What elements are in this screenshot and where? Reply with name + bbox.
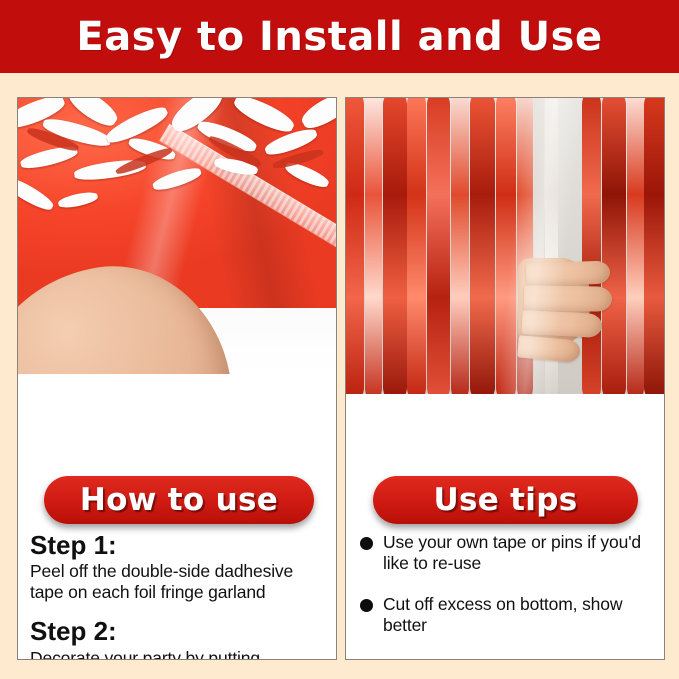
how-to-use-badge-label: How to use — [80, 482, 278, 518]
header-banner: Easy to Install and Use — [0, 0, 679, 73]
tip-text: Suitablef or birthday party, graduation … — [383, 657, 639, 660]
bullet-icon — [360, 537, 373, 550]
use-tips-badge: Use tips — [373, 476, 638, 524]
finger — [524, 285, 612, 312]
step-1-title: Step 1: — [30, 532, 324, 559]
use-tips-list: Use your own tape or pins if you'd like … — [358, 532, 652, 660]
bullet-icon — [360, 599, 373, 612]
list-item: Cut off excess on bottom, show better — [358, 594, 652, 635]
list-item: Suitablef or birthday party, graduation … — [358, 657, 652, 660]
step-1-body: Peel off the double-side dadhesive tape … — [30, 561, 324, 602]
infographic-page: Easy to Install and Use — [0, 0, 679, 679]
use-tips-badge-label: Use tips — [434, 482, 578, 518]
list-item: Use your own tape or pins if you'd like … — [358, 532, 652, 573]
step-1: Step 1: Peel off the double-side dadhesi… — [30, 532, 324, 602]
step-2: Step 2: Decorate your party by putting a… — [30, 618, 324, 660]
page-title: Easy to Install and Use — [76, 14, 602, 60]
use-tips-photo — [346, 98, 664, 394]
finger — [526, 261, 611, 287]
how-to-use-badge: How to use — [44, 476, 314, 524]
step-2-title: Step 2: — [30, 618, 324, 645]
tip-text: Use your own tape or pins if you'd like … — [383, 532, 641, 573]
tip-text: Cut off excess on bottom, show better — [383, 594, 622, 635]
left-panel: Step 1: Peel off the double-side dadhesi… — [17, 97, 337, 660]
how-to-use-photo — [18, 98, 336, 374]
finger — [521, 310, 602, 338]
right-panel: Use your own tape or pins if you'd like … — [345, 97, 665, 660]
step-2-body: Decorate your party by putting aluminum … — [30, 648, 324, 660]
